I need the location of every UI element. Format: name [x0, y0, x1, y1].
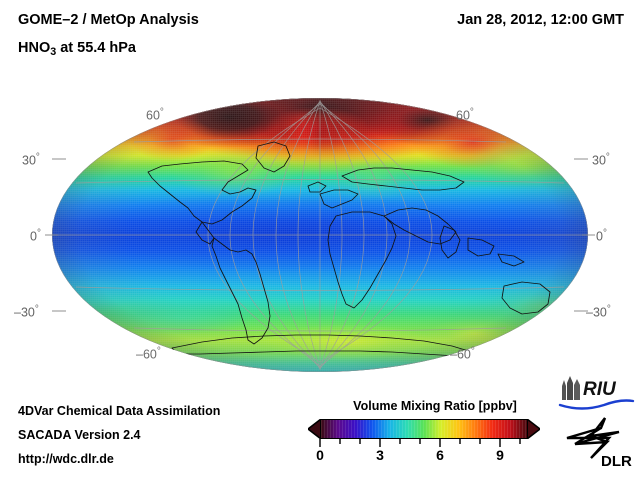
colorbar-minor-tick: [519, 439, 521, 444]
dlr-wordmark: DLR: [601, 453, 632, 470]
dlr-logo: DLR: [561, 416, 637, 470]
colorbar-over-arrow: [526, 419, 540, 439]
footer-line-assimilation: 4DVar Chemical Data Assimilation: [18, 404, 220, 418]
colorbar-ticks: [320, 439, 528, 447]
riu-tower-icon: [562, 376, 580, 400]
lat-tick-marks: [0, 84, 640, 384]
colorbar-major-tick: [439, 439, 441, 447]
colorbar-tick-label: 3: [376, 447, 384, 463]
colorbar-major-tick: [319, 439, 321, 447]
page-title: GOME–2 / MetOp Analysis: [18, 12, 199, 28]
lat-label-inner-60-right: 60°: [456, 107, 474, 123]
lat-label-inner-minus60-left: –60°: [136, 346, 161, 362]
footer-line-url[interactable]: http://wdc.dlr.de: [18, 452, 114, 466]
footer-line-version: SACADA Version 2.4: [18, 428, 141, 442]
colorbar-minor-tick: [399, 439, 401, 444]
timestamp: Jan 28, 2012, 12:00 GMT: [457, 12, 624, 28]
lat-label-inner-minus60-right: –60°: [450, 346, 475, 362]
colorbar-tick-label: 0: [316, 447, 324, 463]
riu-logo: RIU: [556, 374, 636, 412]
colorbar-minor-tick: [359, 439, 361, 444]
colorbar-major-tick: [379, 439, 381, 447]
species-subtitle: HNO3 at 55.4 hPa: [18, 40, 136, 58]
colorbar-major-tick: [499, 439, 501, 447]
map-panel: 30° 0° –30° 30° 0° –30° 60° 60° –60° –60…: [0, 84, 640, 384]
colorbar: [308, 419, 540, 443]
colorbar-dither: [321, 420, 527, 438]
colorbar-tick-label: 9: [496, 447, 504, 463]
species-level: at 55.4 hPa: [56, 40, 136, 56]
figure-canvas: GOME–2 / MetOp Analysis HNO3 at 55.4 hPa…: [0, 0, 640, 480]
riu-wordmark: RIU: [583, 379, 617, 400]
colorbar-minor-tick: [459, 439, 461, 444]
colorbar-tick-labels: 0369: [320, 447, 528, 465]
colorbar-minor-tick: [419, 439, 421, 444]
riu-wave-icon: [560, 401, 633, 409]
species-name: HNO: [18, 40, 50, 56]
colorbar-minor-tick: [339, 439, 341, 444]
lat-label-inner-60-left: 60°: [146, 107, 164, 123]
colorbar-gradient: [320, 419, 528, 439]
colorbar-tick-label: 6: [436, 447, 444, 463]
colorbar-minor-tick: [479, 439, 481, 444]
colorbar-title: Volume Mixing Ratio [ppbv]: [330, 399, 540, 413]
dlr-emblem-icon: [567, 418, 619, 458]
